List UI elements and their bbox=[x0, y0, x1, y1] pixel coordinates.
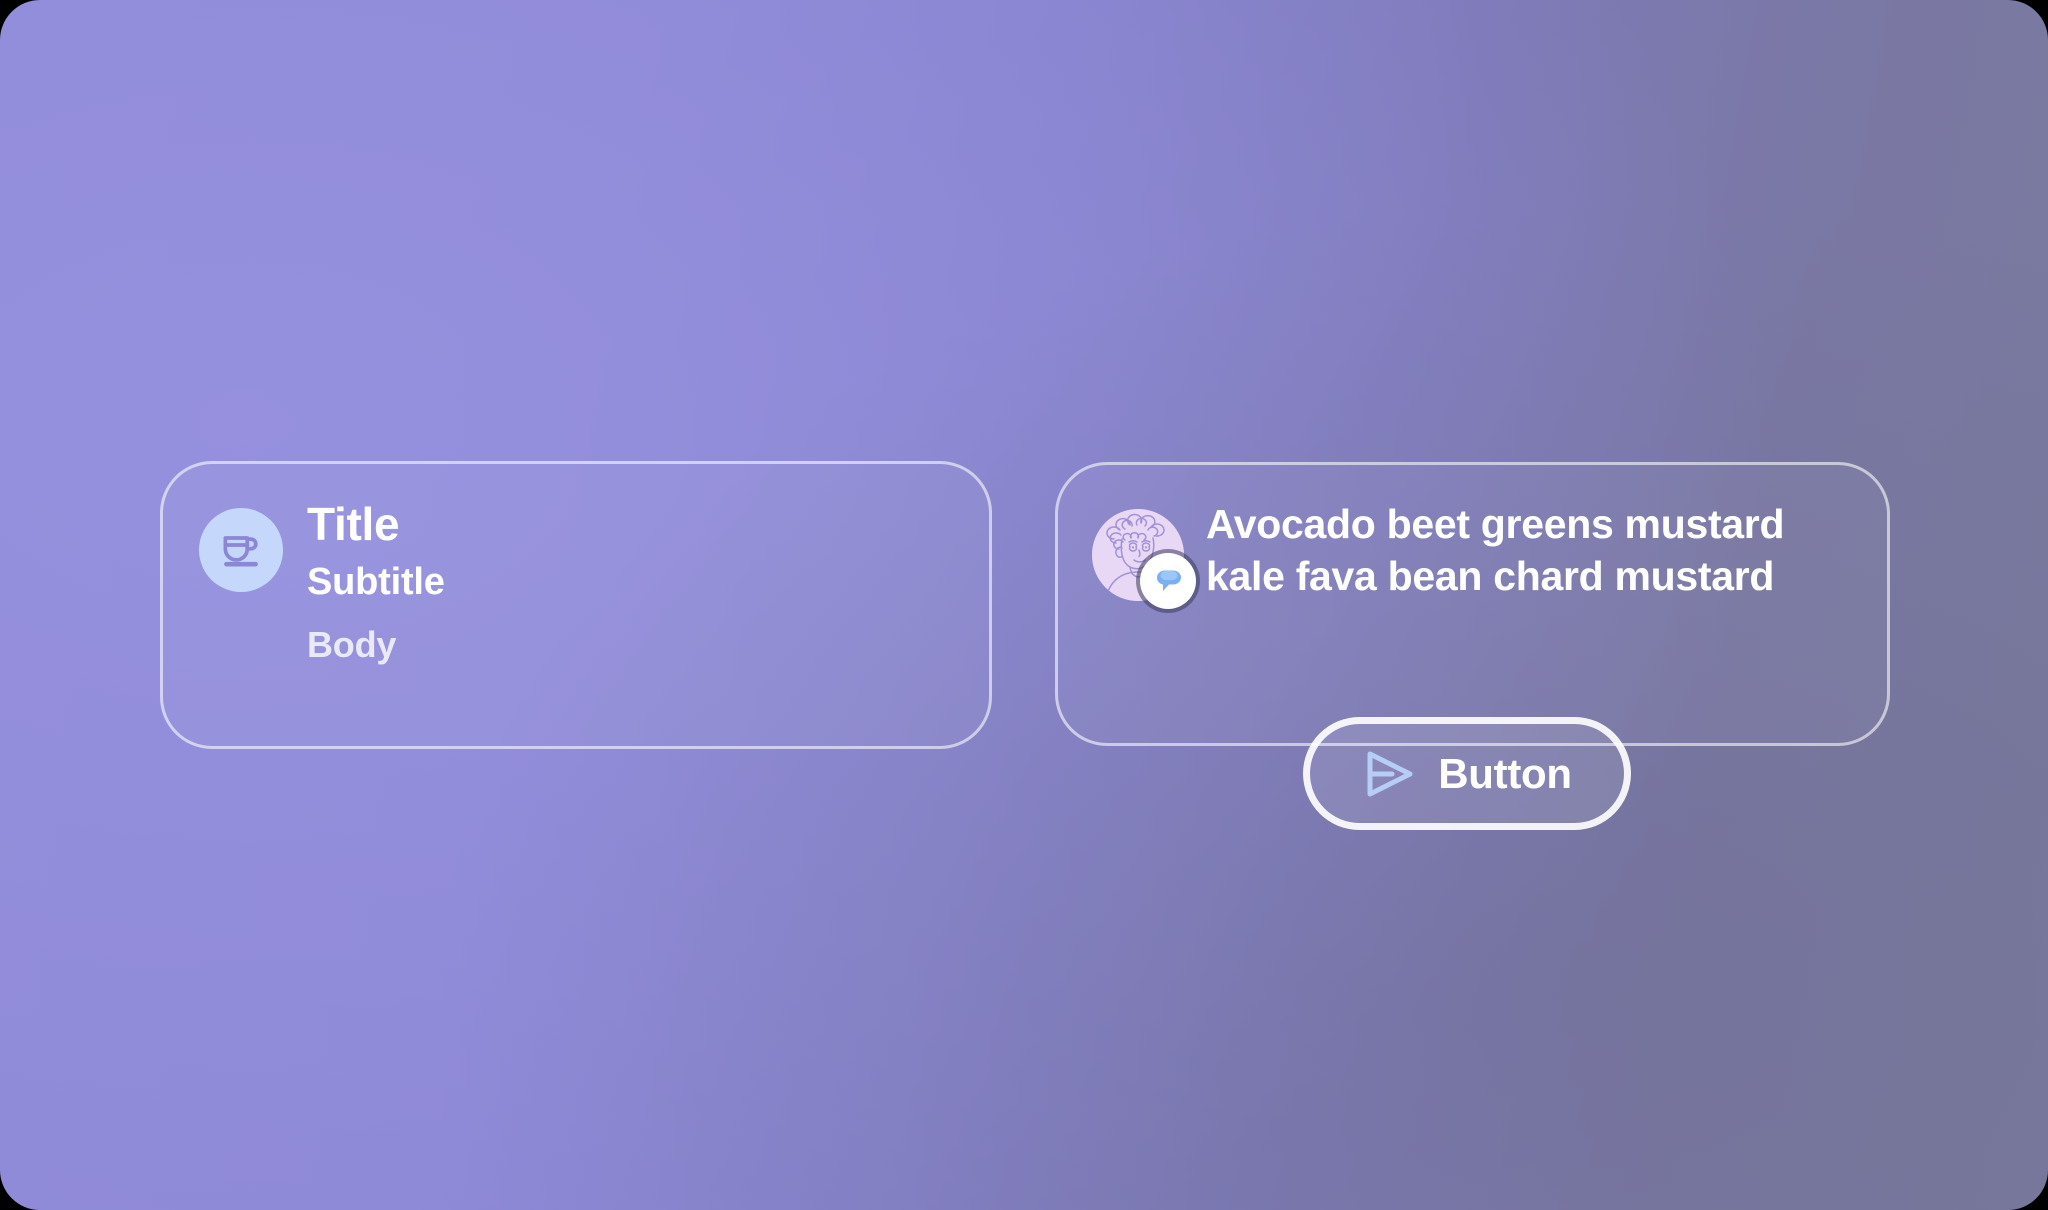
card-title: Title bbox=[307, 500, 445, 549]
screen-canvas: Title Subtitle Body bbox=[0, 0, 2048, 1210]
basic-card-text-block: Title Subtitle Body bbox=[307, 500, 445, 664]
card-body: Body bbox=[307, 625, 445, 665]
coffee-cup-icon bbox=[199, 508, 283, 592]
send-button[interactable]: Button bbox=[1303, 717, 1631, 830]
avatar bbox=[1092, 509, 1184, 601]
send-icon bbox=[1362, 749, 1416, 799]
chat-bubble-icon bbox=[1140, 553, 1196, 609]
message-text: Avocado beet greens mustard kale fava be… bbox=[1206, 499, 1806, 602]
message-card[interactable]: Avocado beet greens mustard kale fava be… bbox=[1055, 462, 1890, 746]
basic-list-card[interactable]: Title Subtitle Body bbox=[160, 461, 992, 749]
card-subtitle: Subtitle bbox=[307, 562, 445, 604]
send-button-label: Button bbox=[1438, 753, 1571, 795]
